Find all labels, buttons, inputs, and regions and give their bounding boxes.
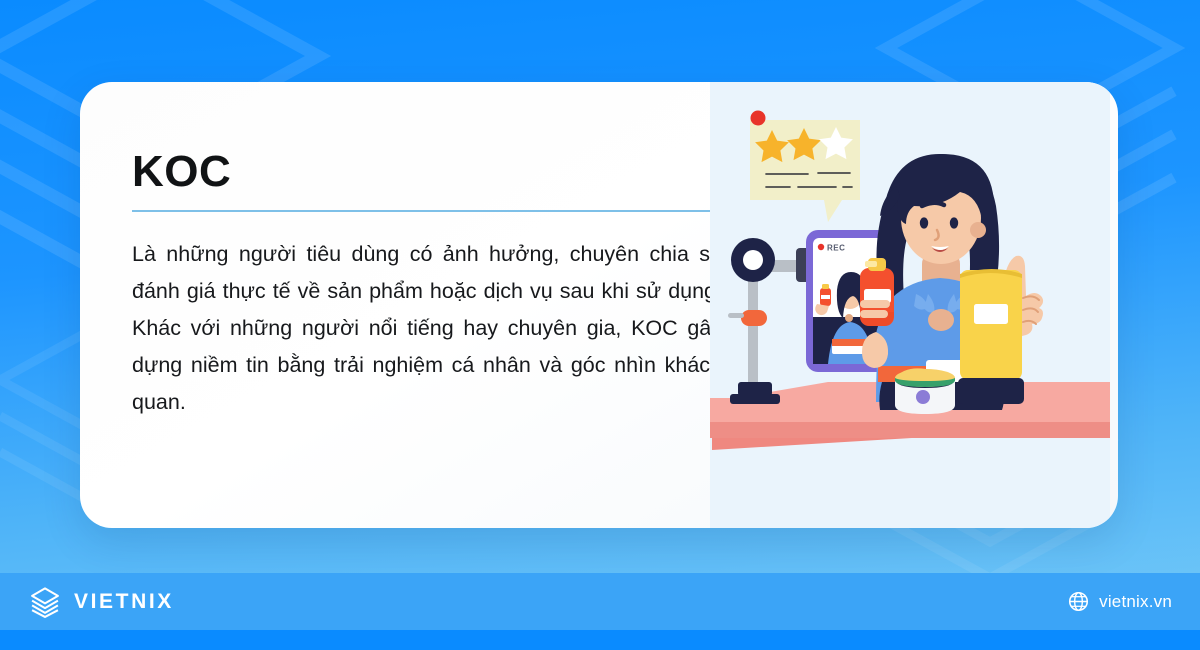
tube-label: [974, 304, 1008, 324]
pendant-icon: [928, 309, 954, 331]
site-link[interactable]: vietnix.vn: [1068, 591, 1172, 612]
vietnix-layers-logo-icon: [28, 585, 62, 619]
product-tube: [958, 269, 1024, 404]
product-jar: [895, 368, 955, 414]
jar-dot-icon: [916, 390, 930, 404]
card-text-column: KOC Là những người tiêu dùng có ảnh hưởn…: [80, 82, 720, 528]
rec-dot-icon: [818, 244, 824, 250]
title-divider: [132, 210, 720, 212]
tube-cap: [958, 378, 1024, 404]
site-url: vietnix.vn: [1099, 592, 1172, 612]
definition-text: Là những người tiêu dùng có ảnh hưởng, c…: [132, 236, 722, 422]
koc-reviewer-illustration: REC: [710, 82, 1110, 528]
content-card: KOC Là những người tiêu dùng có ảnh hưởn…: [80, 82, 1118, 528]
rec-label: REC: [827, 244, 845, 253]
footer-bar: VIETNIX vietnix.vn: [0, 573, 1200, 630]
card-illustration-column: REC: [720, 82, 1118, 528]
globe-icon: [1068, 591, 1089, 612]
page-title: KOC: [132, 150, 720, 194]
brand-name: VIETNIX: [74, 590, 174, 614]
brand-logo[interactable]: VIETNIX: [28, 585, 174, 619]
bubble-pin-icon: [751, 111, 766, 126]
